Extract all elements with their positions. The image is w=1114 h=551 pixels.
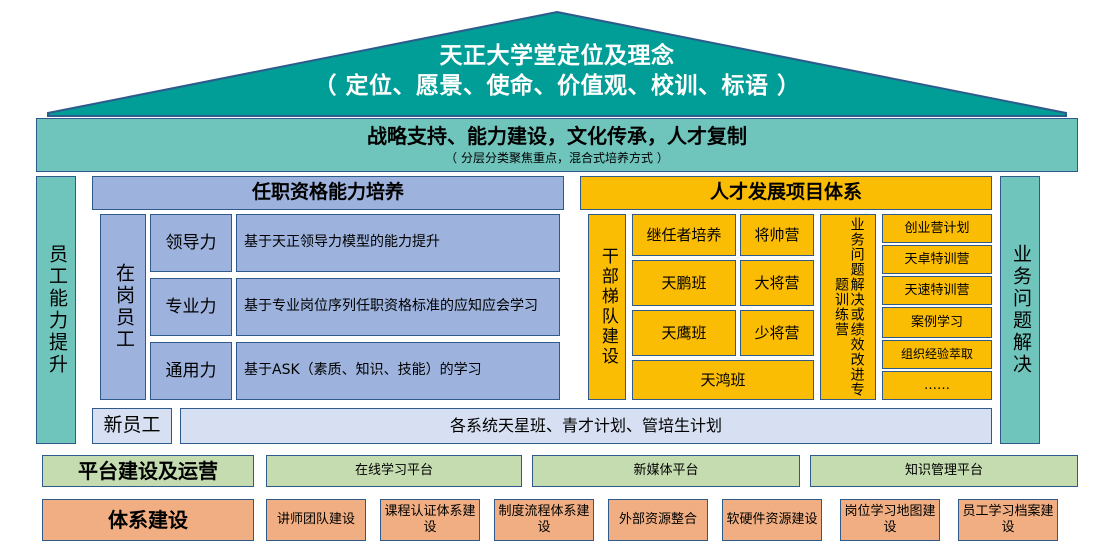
on-job-employee-text: 在岗员工 bbox=[113, 263, 133, 351]
pillar-employee-capability: 员工能力提升 bbox=[36, 176, 76, 444]
capability-professional: 专业力 bbox=[150, 278, 232, 336]
capability-leadership: 领导力 bbox=[150, 214, 232, 272]
platform-item-label-3: 知识管理平台 bbox=[905, 463, 983, 479]
capability-professional-desc-text: 基于专业岗位序列任职资格标准的应知应会学习 bbox=[244, 298, 538, 315]
platform-item-1: 在线学习平台 bbox=[266, 455, 522, 487]
qualification-header: 任职资格能力培养 bbox=[92, 176, 564, 210]
capability-general: 通用力 bbox=[150, 342, 232, 400]
talent-track-a-item-2: 天鹏班 bbox=[632, 260, 736, 306]
platform-title: 平台建设及运营 bbox=[42, 455, 254, 487]
talent-program-label-6: …… bbox=[924, 378, 950, 394]
system-item-label-7: 员工学习档案建设 bbox=[959, 504, 1057, 536]
capability-professional-desc: 基于专业岗位序列任职资格标准的应知应会学习 bbox=[236, 278, 560, 336]
talent-track-b-label-2: 大将营 bbox=[754, 274, 799, 292]
new-employee-label: 新员工 bbox=[92, 408, 172, 444]
platform-item-label-2: 新媒体平台 bbox=[633, 463, 698, 479]
system-title: 体系建设 bbox=[42, 499, 254, 541]
system-item-2: 课程认证体系建设 bbox=[380, 499, 480, 541]
system-title-label: 体系建设 bbox=[108, 508, 188, 532]
pillar-business-problem: 业务问题解决 bbox=[1000, 176, 1040, 444]
business-problem-camp: 业务问题解决或绩效改进专题训练营 bbox=[820, 214, 876, 400]
capability-general-desc-text: 基于ASK（素质、知识、技能）的学习 bbox=[244, 362, 482, 379]
strategy-band: 战略支持、能力建设，文化传承，人才复制 （ 分层分类聚焦重点，混合式培养方式 ） bbox=[36, 118, 1078, 172]
talent-track-a-label-3: 天鹰班 bbox=[661, 324, 706, 342]
new-employee-label-text: 新员工 bbox=[103, 414, 160, 437]
talent-program-3: 天速特训营 bbox=[882, 276, 992, 305]
system-item-4: 外部资源整合 bbox=[608, 499, 708, 541]
system-item-label-4: 外部资源整合 bbox=[619, 512, 697, 528]
platform-item-label-1: 在线学习平台 bbox=[355, 463, 433, 479]
talent-program-label-1: 创业营计划 bbox=[904, 221, 969, 237]
talent-full-width-label: 天鸿班 bbox=[700, 371, 745, 389]
pillar-right-label: 业务问题解决 bbox=[1010, 244, 1030, 376]
talent-program-4: 案例学习 bbox=[882, 307, 992, 338]
talent-program-label-2: 天卓特训营 bbox=[904, 252, 969, 268]
capability-leadership-desc: 基于天正领导力模型的能力提升 bbox=[236, 214, 560, 272]
talent-program-2: 天卓特训营 bbox=[882, 245, 992, 274]
system-item-3: 制度流程体系建设 bbox=[494, 499, 594, 541]
talent-track-b-item-2: 大将营 bbox=[740, 260, 814, 306]
capability-leadership-label: 领导力 bbox=[166, 233, 217, 254]
talent-header: 人才发展项目体系 bbox=[580, 176, 992, 210]
capability-general-label: 通用力 bbox=[166, 361, 217, 382]
talent-program-label-5: 组织经验萃取 bbox=[901, 347, 973, 362]
talent-track-a-item-3: 天鹰班 bbox=[632, 310, 736, 356]
pillar-left-label: 员工能力提升 bbox=[46, 244, 66, 376]
capability-general-desc: 基于ASK（素质、知识、技能）的学习 bbox=[236, 342, 560, 400]
talent-track-b-item-3: 少将营 bbox=[740, 310, 814, 356]
system-item-5: 软硬件资源建设 bbox=[722, 499, 822, 541]
system-item-7: 员工学习档案建设 bbox=[958, 499, 1058, 541]
strategy-main-text: 战略支持、能力建设，文化传承，人才复制 bbox=[367, 124, 747, 148]
business-problem-camp-label: 业务问题解决或绩效改进专题训练营 bbox=[832, 215, 863, 399]
talent-track-b-label-1: 将帅营 bbox=[754, 226, 799, 244]
roof-shape bbox=[46, 10, 1068, 118]
system-item-6: 岗位学习地图建设 bbox=[840, 499, 940, 541]
capability-leadership-desc-text: 基于天正领导力模型的能力提升 bbox=[244, 234, 440, 251]
roof-container: 天正大学堂定位及理念 （ 定位、愿景、使命、价值观、校训、标语 ） bbox=[46, 10, 1068, 118]
talent-program-1: 创业营计划 bbox=[882, 214, 992, 243]
system-item-1: 讲师团队建设 bbox=[266, 499, 366, 541]
system-item-label-3: 制度流程体系建设 bbox=[495, 504, 593, 536]
cadre-echelon-label: 干部梯队建设 bbox=[588, 214, 626, 400]
system-item-label-2: 课程认证体系建设 bbox=[381, 504, 479, 536]
talent-program-6: …… bbox=[882, 371, 992, 400]
system-item-label-5: 软硬件资源建设 bbox=[726, 512, 817, 528]
talent-track-a-label-1: 继任者培养 bbox=[646, 226, 721, 244]
system-item-label-1: 讲师团队建设 bbox=[277, 512, 355, 528]
system-item-label-6: 岗位学习地图建设 bbox=[841, 504, 939, 536]
cadre-echelon-text: 干部梯队建设 bbox=[598, 247, 616, 367]
platform-title-label: 平台建设及运营 bbox=[78, 459, 218, 483]
on-job-employee-label: 在岗员工 bbox=[100, 214, 146, 400]
talent-program-label-3: 天速特训营 bbox=[904, 283, 969, 299]
talent-program-label-4: 案例学习 bbox=[911, 315, 963, 331]
talent-full-width-item: 天鸿班 bbox=[632, 360, 814, 400]
new-employee-desc-text: 各系统天星班、青才计划、管培生计划 bbox=[450, 416, 722, 436]
talent-track-a-label-2: 天鹏班 bbox=[661, 274, 706, 292]
talent-program-5: 组织经验萃取 bbox=[882, 340, 992, 369]
talent-track-a-item-1: 继任者培养 bbox=[632, 214, 736, 256]
new-employee-desc: 各系统天星班、青才计划、管培生计划 bbox=[180, 408, 992, 444]
talent-header-label: 人才发展项目体系 bbox=[710, 181, 862, 204]
capability-professional-label: 专业力 bbox=[166, 297, 217, 318]
pyramid-diagram: 天正大学堂定位及理念 （ 定位、愿景、使命、价值观、校训、标语 ） 战略支持、能… bbox=[0, 0, 1114, 551]
qualification-header-label: 任职资格能力培养 bbox=[252, 181, 404, 204]
platform-item-2: 新媒体平台 bbox=[532, 455, 800, 487]
talent-track-b-item-1: 将帅营 bbox=[740, 214, 814, 256]
platform-item-3: 知识管理平台 bbox=[810, 455, 1078, 487]
talent-track-b-label-3: 少将营 bbox=[754, 324, 799, 342]
strategy-sub-text: （ 分层分类聚焦重点，混合式培养方式 ） bbox=[445, 151, 669, 166]
